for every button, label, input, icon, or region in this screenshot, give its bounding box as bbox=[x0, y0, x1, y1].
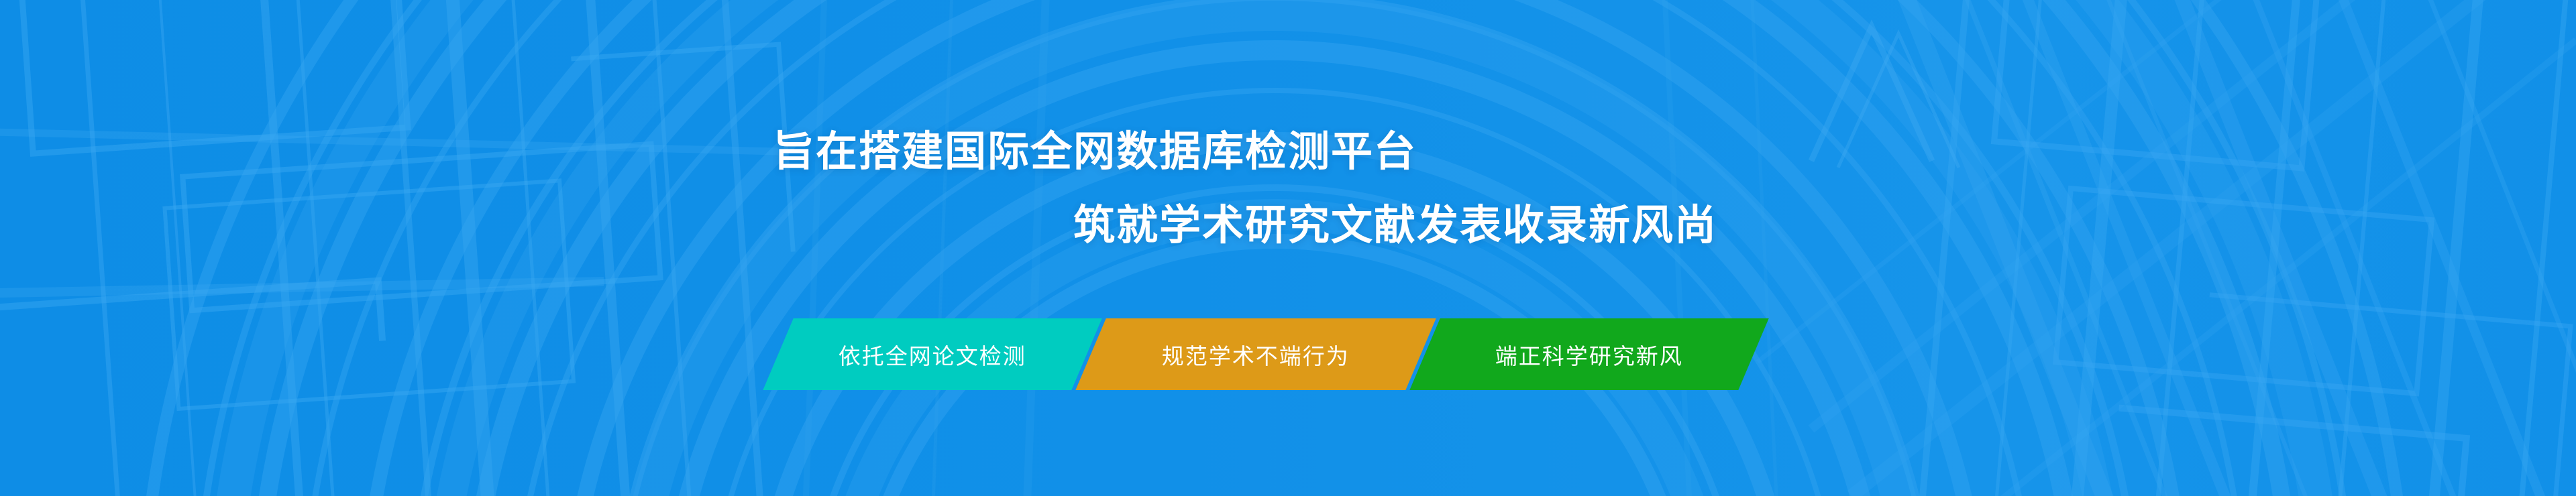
feature-tag-label: 规范学术不端行为 bbox=[1162, 338, 1350, 371]
feature-tag-strip: 依托全网论文检测 规范学术不端行为 端正科学研究新风 bbox=[778, 318, 1754, 390]
feature-tag-misconduct-regulation[interactable]: 规范学术不端行为 bbox=[1075, 318, 1436, 390]
feature-tag-label: 端正科学研究新风 bbox=[1495, 338, 1683, 371]
headline-secondary: 筑就学术研究文献发表收录新风尚 bbox=[1073, 205, 1717, 247]
feature-tag-paper-detection[interactable]: 依托全网论文检测 bbox=[763, 318, 1102, 390]
promo-banner: 旨在搭建国际全网数据库检测平台 筑就学术研究文献发表收录新风尚 依托全网论文检测… bbox=[0, 0, 2576, 496]
feature-tag-research-ethics[interactable]: 端正科学研究新风 bbox=[1409, 318, 1768, 390]
feature-tag-label: 依托全网论文检测 bbox=[839, 338, 1026, 371]
headline-primary: 旨在搭建国际全网数据库检测平台 bbox=[773, 131, 1417, 173]
